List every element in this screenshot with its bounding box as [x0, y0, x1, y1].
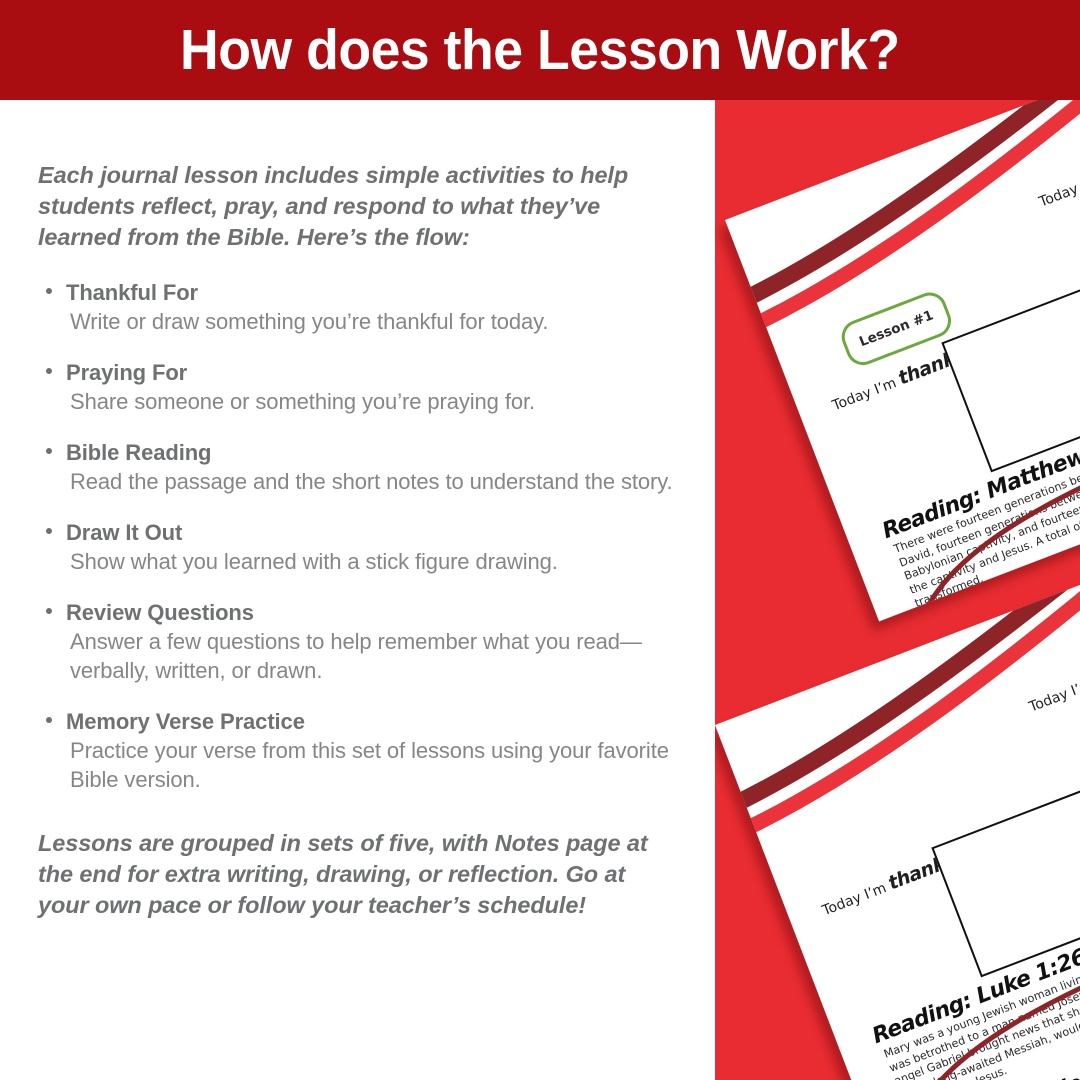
list-item-desc: Share someone or something you’re prayin…	[70, 387, 677, 416]
list-item: Thankful For Write or draw something you…	[38, 279, 677, 336]
list-item-title: Thankful For	[66, 279, 677, 307]
intro-paragraph: Each journal lesson includes simple acti…	[38, 160, 677, 253]
list-item: Memory Verse Practice Practice your vers…	[38, 708, 677, 794]
header-banner: How does the Lesson Work?	[0, 0, 1080, 100]
bullet-dot-icon	[46, 528, 52, 534]
list-item-title: Memory Verse Practice	[66, 708, 677, 736]
list-item-desc: Answer a few questions to help remember …	[70, 627, 677, 685]
list-item: Bible Reading Read the passage and the s…	[38, 439, 677, 496]
infographic-page: How does the Lesson Work? Each journal l…	[0, 0, 1080, 1080]
outro-paragraph: Lessons are grouped in sets of five, wit…	[38, 828, 677, 921]
list-item-desc: Write or draw something you’re thankful …	[70, 307, 677, 336]
thankful-prompt-plain: Today I’m	[830, 375, 898, 414]
page-title: How does the Lesson Work?	[180, 22, 900, 79]
worksheet-content: Lesson #1 Today I’m thankful for: Today …	[725, 100, 1080, 621]
list-item-desc: Read the passage and the short notes to …	[70, 467, 677, 496]
lesson-flow-list: Thankful For Write or draw something you…	[38, 279, 677, 794]
list-item-title: Review Questions	[66, 599, 677, 627]
list-item-title: Praying For	[66, 359, 677, 387]
worksheet-page-lesson-1: Lesson #1 Today I’m thankful for: Today …	[725, 100, 1080, 621]
bullet-dot-icon	[46, 368, 52, 374]
content-column: Each journal lesson includes simple acti…	[0, 100, 715, 1080]
list-item: Draw It Out Show what you learned with a…	[38, 519, 677, 576]
list-item: Review Questions Answer a few questions …	[38, 599, 677, 685]
bullet-dot-icon	[46, 717, 52, 723]
worksheet-content: Lesson #2 Today I’m thankful for: Today …	[715, 557, 1080, 1080]
list-item-title: Draw It Out	[66, 519, 677, 547]
bullet-dot-icon	[46, 288, 52, 294]
list-item-desc: Show what you learned with a stick figur…	[70, 547, 677, 576]
worksheet-preview-panel: Lesson #1 Today I’m thankful for: Today …	[715, 100, 1080, 1080]
bullet-dot-icon	[46, 608, 52, 614]
bullet-dot-icon	[46, 448, 52, 454]
worksheet-page-lesson-2: Lesson #2 Today I’m thankful for: Today …	[715, 557, 1080, 1080]
list-item: Praying For Share someone or something y…	[38, 359, 677, 416]
list-item-title: Bible Reading	[66, 439, 677, 467]
list-item-desc: Practice your verse from this set of les…	[70, 736, 677, 794]
thankful-prompt-plain: Today I’m	[820, 880, 888, 919]
